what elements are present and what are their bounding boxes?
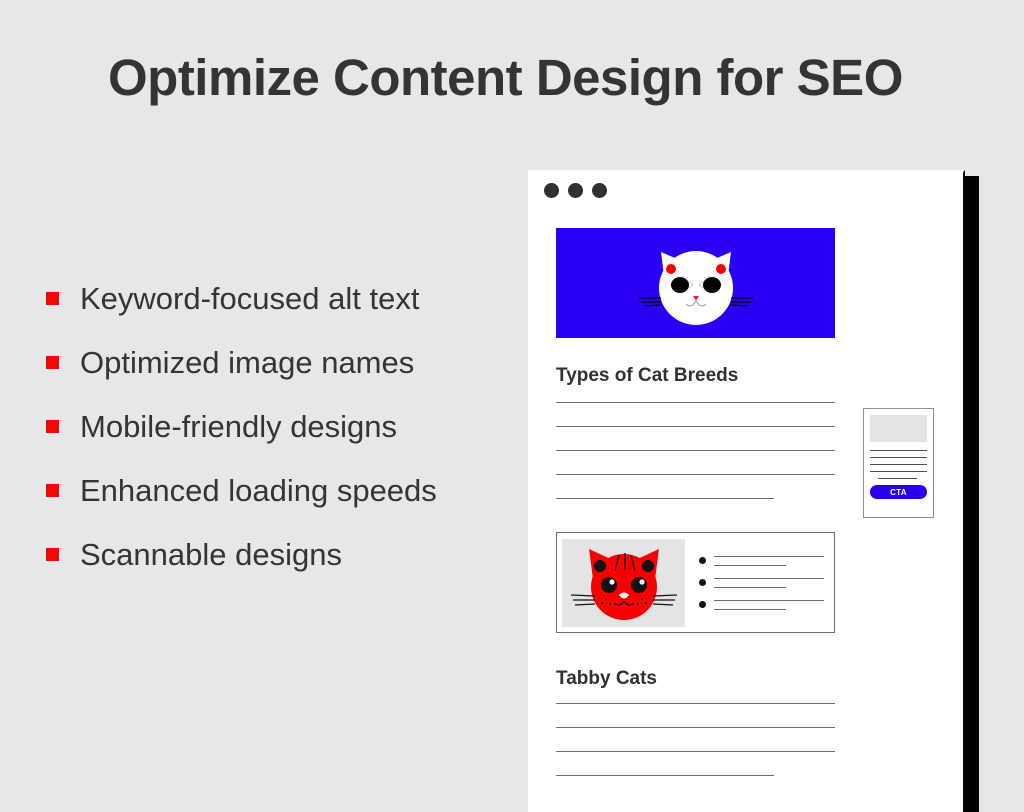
- text-line: [556, 402, 835, 403]
- list-item: Keyword-focused alt text: [46, 266, 516, 330]
- text-line: [714, 578, 824, 579]
- text-line: [556, 474, 835, 475]
- text-line: [714, 609, 786, 610]
- square-bullet-icon: [46, 484, 59, 497]
- round-bullet-icon: [699, 601, 706, 608]
- list-item: Optimized image names: [46, 330, 516, 394]
- text-line: [878, 478, 917, 479]
- cta-button[interactable]: CTA: [870, 485, 927, 499]
- article-heading-primary: Types of Cat Breeds: [556, 365, 738, 387]
- text-line: [556, 775, 774, 776]
- feature-thumbnail: [562, 539, 685, 627]
- sidebar-text-placeholder: [870, 450, 927, 479]
- hero-banner-image: [556, 228, 835, 338]
- list-item-label: Keyword-focused alt text: [80, 283, 419, 314]
- text-line: [556, 426, 835, 427]
- list-item: Scannable designs: [46, 522, 516, 586]
- browser-window-mock: Types of Cat Breeds CTA: [528, 170, 963, 812]
- feature-bullet-placeholder-list: [685, 556, 834, 610]
- list-item: [699, 578, 824, 588]
- text-line: [714, 565, 786, 566]
- square-bullet-icon: [46, 356, 59, 369]
- round-bullet-icon: [699, 557, 706, 564]
- infographic-canvas: Optimize Content Design for SEO Keyword-…: [0, 0, 1024, 812]
- square-bullet-icon: [46, 548, 59, 561]
- sidebar-thumbnail-placeholder: [870, 415, 927, 442]
- list-item: Mobile-friendly designs: [46, 394, 516, 458]
- square-bullet-icon: [46, 292, 59, 305]
- text-line: [556, 703, 835, 704]
- text-line: [870, 450, 927, 451]
- list-item: Enhanced loading speeds: [46, 458, 516, 522]
- list-item-label: Optimized image names: [80, 347, 414, 378]
- feature-bullet-list: Keyword-focused alt text Optimized image…: [46, 266, 516, 586]
- list-item-lines: [714, 556, 824, 566]
- list-item-lines: [714, 600, 824, 610]
- article-heading-secondary: Tabby Cats: [556, 668, 657, 690]
- list-item: [699, 556, 824, 566]
- text-line: [556, 450, 835, 451]
- white-cat-face-icon: [631, 228, 761, 338]
- browser-titlebar: [528, 170, 963, 212]
- feature-content-box: [556, 532, 835, 633]
- sidebar-widget-card: CTA: [863, 408, 934, 518]
- window-minimize-dot-icon[interactable]: [568, 183, 583, 198]
- article-body-placeholder-top: [556, 402, 835, 522]
- window-close-dot-icon[interactable]: [544, 183, 559, 198]
- text-line: [870, 464, 927, 465]
- round-bullet-icon: [699, 579, 706, 586]
- square-bullet-icon: [46, 420, 59, 433]
- article-body-placeholder-bottom: [556, 703, 835, 799]
- list-item-label: Mobile-friendly designs: [80, 411, 397, 442]
- list-item-label: Enhanced loading speeds: [80, 475, 437, 506]
- text-line: [714, 556, 824, 557]
- page-title: Optimize Content Design for SEO: [108, 48, 903, 107]
- text-line: [714, 587, 786, 588]
- text-line: [870, 457, 927, 458]
- text-line: [714, 600, 824, 601]
- list-item: [699, 600, 824, 610]
- text-line: [556, 498, 774, 499]
- list-item-lines: [714, 578, 824, 588]
- text-line: [556, 727, 835, 728]
- browser-window-shadow: [963, 176, 979, 812]
- text-line: [870, 471, 927, 472]
- list-item-label: Scannable designs: [80, 539, 342, 570]
- window-maximize-dot-icon[interactable]: [592, 183, 607, 198]
- red-tabby-cat-face-icon: [569, 541, 679, 625]
- text-line: [556, 751, 835, 752]
